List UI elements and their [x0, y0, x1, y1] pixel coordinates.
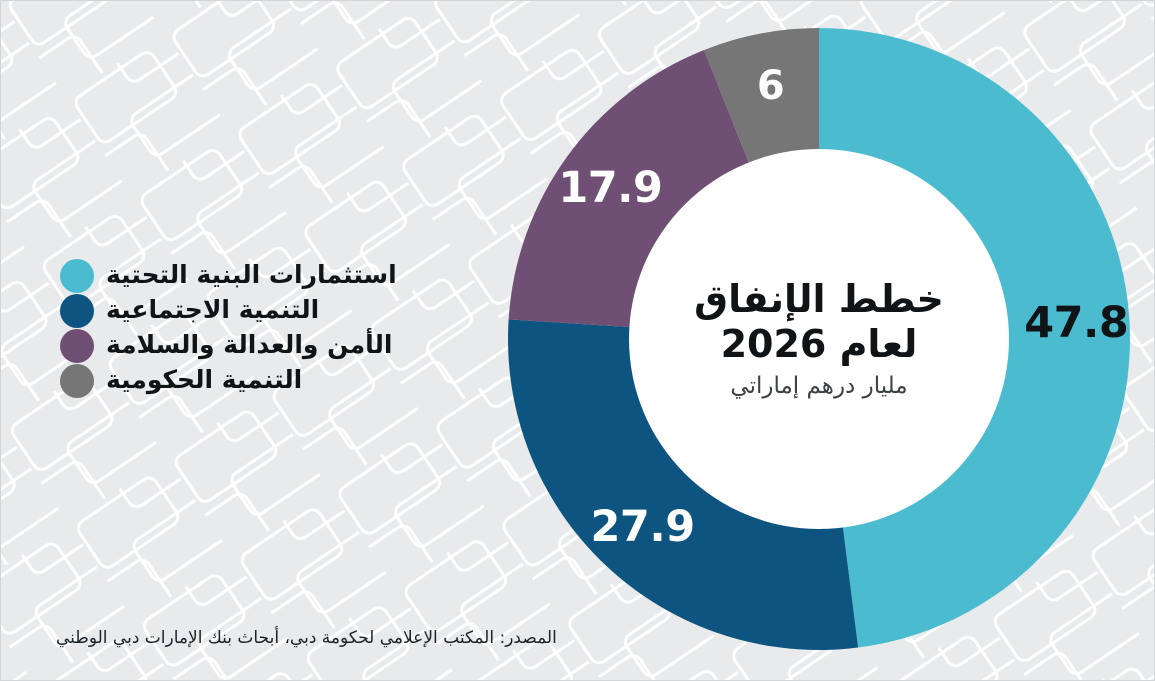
legend-label-social-development: التنمية الاجتماعية — [94, 297, 460, 323]
legend-swatch-security-justice-safety — [60, 329, 94, 363]
legend-label-security-justice-safety: الأمن والعدالة والسلامة — [94, 332, 460, 358]
legend-item-social-development[interactable]: التنمية الاجتماعية — [60, 293, 460, 328]
legend-item-government-development[interactable]: التنمية الحكومية — [60, 363, 460, 398]
source-note: المصدر: المكتب الإعلامي لحكومة دبي، أبحا… — [56, 628, 557, 648]
donut-chart: خطط الإنفاق لعام 2026 مليار درهم إماراتي… — [508, 28, 1130, 650]
chart-legend: استثمارات البنية التحتية التنمية الاجتما… — [60, 258, 460, 398]
chart-subtitle: مليار درهم إماراتي — [730, 373, 907, 401]
infographic-canvas: خطط الإنفاق لعام 2026 مليار درهم إماراتي… — [0, 0, 1155, 681]
donut-center-label: خطط الإنفاق لعام 2026 مليار درهم إماراتي — [629, 149, 1009, 529]
legend-swatch-government-development — [60, 364, 94, 398]
legend-item-security-justice-safety[interactable]: الأمن والعدالة والسلامة — [60, 328, 460, 363]
legend-label-government-development: التنمية الحكومية — [94, 367, 460, 393]
legend-item-infrastructure[interactable]: استثمارات البنية التحتية — [60, 258, 460, 293]
legend-swatch-infrastructure — [60, 259, 94, 293]
legend-swatch-social-development — [60, 294, 94, 328]
legend-label-infrastructure: استثمارات البنية التحتية — [94, 262, 460, 288]
chart-title: خطط الإنفاق لعام 2026 — [664, 277, 974, 367]
